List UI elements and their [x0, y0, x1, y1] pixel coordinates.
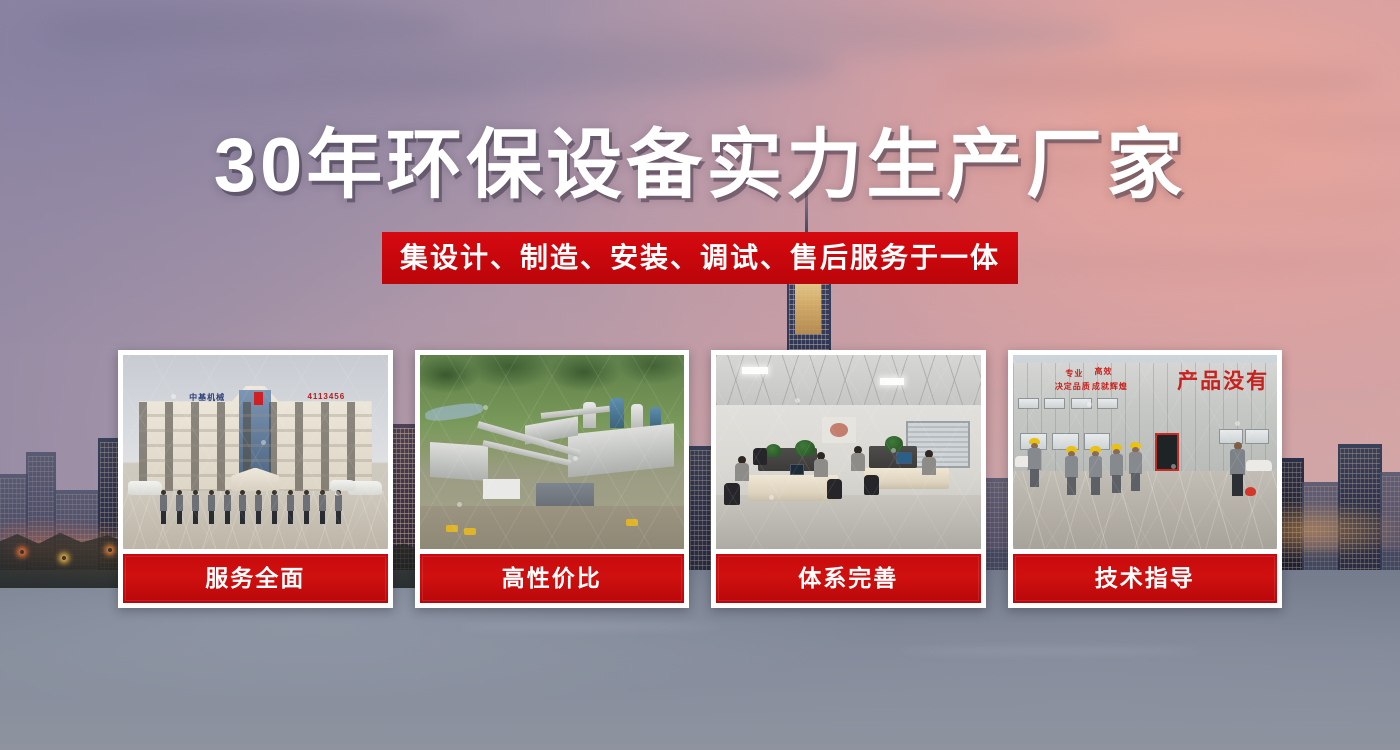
card-caption-bar: 服务全面	[123, 554, 388, 603]
feature-card-system[interactable]: 体系完善	[711, 350, 986, 608]
factory-wall-slogan-small-4: 成就辉煌	[1092, 382, 1128, 391]
feature-card-guidance[interactable]: 产品没有 专业 高效 决定品质 成就辉煌	[1008, 350, 1283, 608]
factory-workers-briefing-photo: 产品没有 专业 高效 决定品质 成就辉煌	[1013, 355, 1278, 549]
office-interior-staff-photo	[716, 355, 981, 549]
card-caption-bar: 体系完善	[716, 554, 981, 603]
factory-wall-slogan-small-3: 决定品质	[1055, 382, 1091, 391]
feature-card-service[interactable]: 中基机械 4113456	[118, 350, 393, 608]
feature-card-value[interactable]: 高性价比	[415, 350, 690, 608]
building-phone-number: 4113456	[307, 392, 345, 401]
promo-banner: 30年环保设备实力生产厂家 集设计、制造、安装、调试、售后服务于一体 中基机械 …	[0, 0, 1400, 750]
card-caption-text: 服务全面	[205, 567, 305, 590]
factory-wall-slogan-small-1: 专业	[1065, 369, 1083, 378]
aerial-industrial-plant-photo	[420, 355, 685, 549]
headline-title: 30年环保设备实力生产厂家	[0, 128, 1400, 204]
card-caption-text: 技术指导	[1095, 567, 1195, 590]
subtitle-text: 集设计、制造、安装、调试、售后服务于一体	[400, 244, 1000, 272]
factory-wall-slogan: 产品没有	[1177, 365, 1269, 395]
office-building-staff-photo: 中基机械 4113456	[123, 355, 388, 549]
building-signage-text: 中基机械	[189, 392, 225, 403]
feature-card-row: 中基机械 4113456	[118, 350, 1282, 608]
card-caption-text: 体系完善	[798, 567, 898, 590]
card-caption-bar: 技术指导	[1013, 554, 1278, 603]
factory-wall-slogan-small-2: 高效	[1094, 367, 1112, 376]
card-caption-text: 高性价比	[502, 567, 602, 590]
subtitle-banner: 集设计、制造、安装、调试、售后服务于一体	[382, 232, 1018, 284]
card-caption-bar: 高性价比	[420, 554, 685, 603]
